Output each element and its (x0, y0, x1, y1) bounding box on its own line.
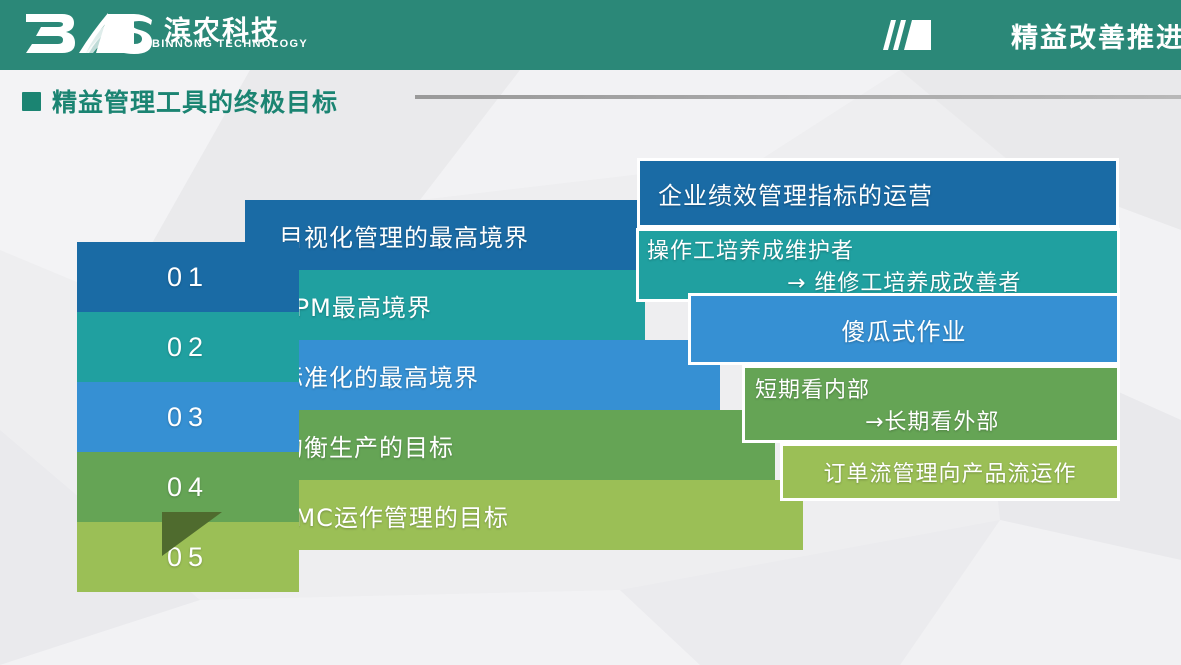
stair-label-4[interactable]: 均衡生产的目标 (245, 410, 775, 480)
page-title-row: 精益管理工具的终极目标 (22, 83, 338, 119)
brand-name-en: BINNONG TECHNOLOGY (152, 38, 308, 50)
callout-panel-1-line-1: 企业绩效管理指标的运营 (658, 176, 1116, 211)
callout-panel-1[interactable]: 企业绩效管理指标的运营 (637, 158, 1119, 228)
stair-number-1[interactable]: 01 (77, 242, 299, 312)
callout-panel-5[interactable]: 订单流管理向产品流运作 (780, 443, 1120, 501)
stair-number-3-text: 03 (167, 402, 209, 433)
stair-label-5-text: PMC运作管理的目标 (279, 498, 509, 533)
stair-label-1[interactable]: 目视化管理的最高境界 (245, 200, 645, 270)
header-title: 精益改善推进 (1011, 16, 1181, 55)
callout-panel-4-line-2: →长期看外部 (755, 404, 1117, 436)
stair-number-shadow (162, 512, 222, 556)
stair-label-2[interactable]: TPM最高境界 (245, 270, 645, 340)
stair-number-1-text: 01 (167, 262, 209, 293)
callout-panel-4-line-1: 短期看内部 (755, 372, 1117, 404)
stair-label-3[interactable]: 标准化的最高境界 (245, 340, 720, 410)
callout-panel-2-line-1: 操作工培养成维护者 (647, 233, 1117, 265)
stair-label-5[interactable]: PMC运作管理的目标 (245, 480, 803, 550)
stair-label-2-text: TPM最高境界 (279, 288, 432, 323)
stair-number-4-text: 04 (167, 472, 209, 503)
square-bullet-icon (22, 92, 41, 111)
stair-label-3-text: 标准化的最高境界 (279, 358, 479, 393)
callout-panel-5-line-1: 订单流管理向产品流运作 (823, 456, 1076, 488)
slanted-bars-icon (881, 18, 933, 52)
brand-logo: 滨农科技 (22, 8, 280, 60)
app-header: 滨农科技 BINNONG TECHNOLOGY 精益改善推进 (0, 0, 1181, 70)
stair-label-1-text: 目视化管理的最高境界 (279, 218, 529, 253)
callout-panel-2[interactable]: 操作工培养成维护者 → 维修工培养成改善者 (636, 228, 1120, 302)
title-divider (415, 95, 1181, 99)
stair-number-2[interactable]: 02 (77, 312, 299, 382)
callout-panel-3[interactable]: 傻瓜式作业 (688, 293, 1120, 365)
page-title: 精益管理工具的终极目标 (52, 83, 338, 119)
callout-panel-3-line-1: 傻瓜式作业 (842, 312, 967, 347)
stair-number-3[interactable]: 03 (77, 382, 299, 452)
bns-logo-icon (22, 8, 154, 60)
header-right-group: 精益改善推进 (881, 0, 1181, 70)
callout-panel-4[interactable]: 短期看内部 →长期看外部 (742, 365, 1120, 443)
stair-label-4-text: 均衡生产的目标 (279, 428, 454, 463)
stair-number-2-text: 02 (167, 332, 209, 363)
